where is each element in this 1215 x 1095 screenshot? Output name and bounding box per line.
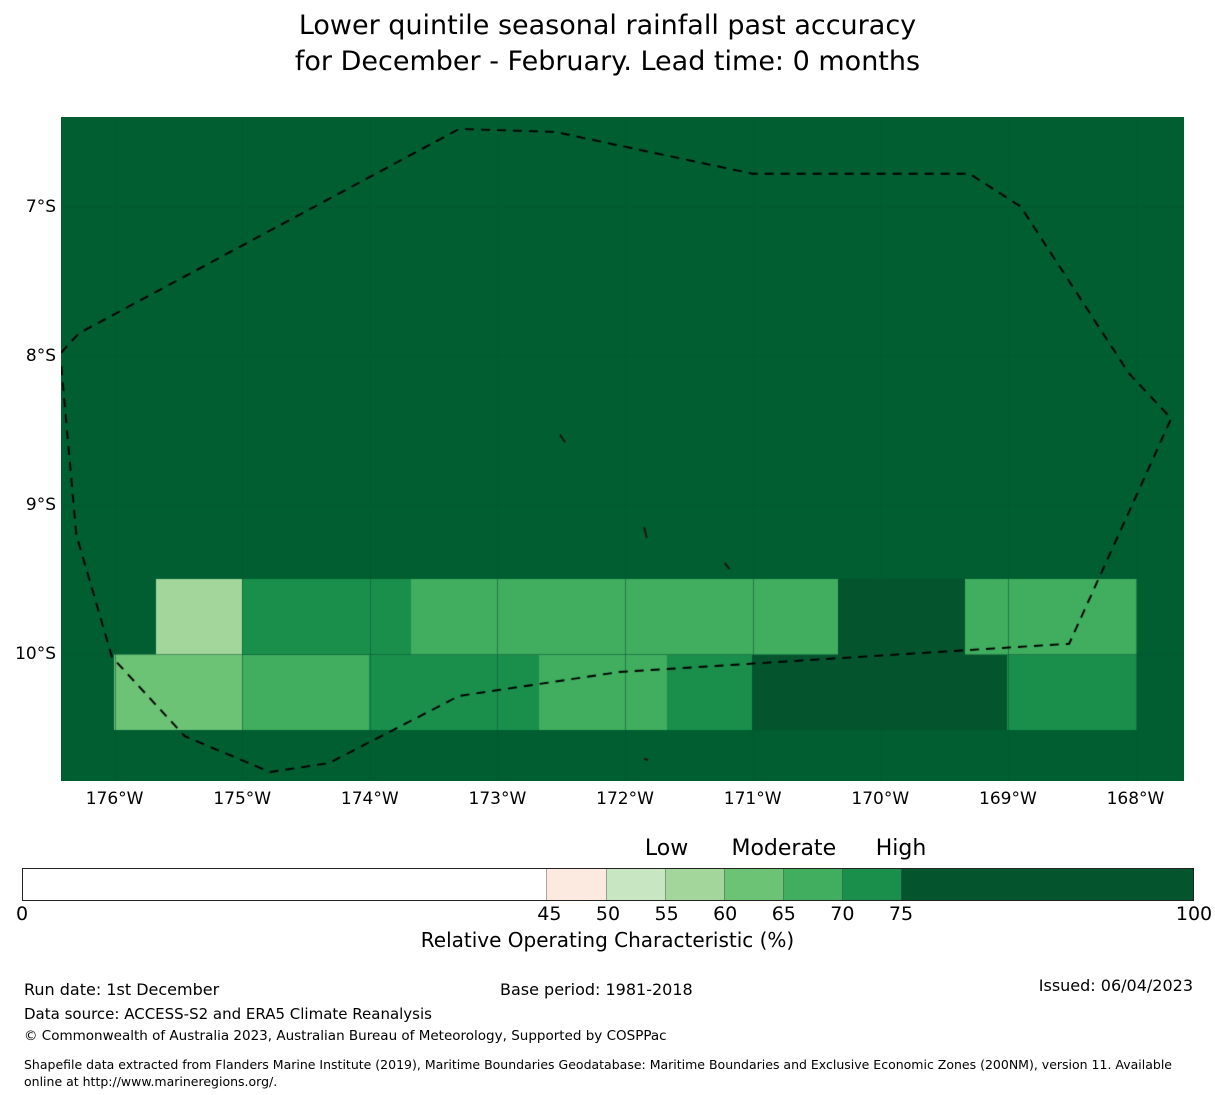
x-tick-label-6: 170°W [835, 791, 925, 808]
colorbar-segment-70-75 [842, 869, 901, 900]
issued-date-text: Issued: 06/04/2023 [1039, 976, 1193, 995]
x-tick-label-7: 169°W [963, 791, 1053, 808]
colorbar-segment-65-70 [783, 869, 842, 900]
colorbar: LowModerateHigh 045505560657075100 Relat… [0, 836, 1215, 956]
colorbar-segment-0-45 [23, 869, 546, 900]
colorbar-segment-45-50 [546, 869, 605, 900]
y-tick-label-0: 7°S [4, 199, 56, 216]
data-source-text: Data source: ACCESS-S2 and ERA5 Climate … [24, 1005, 432, 1023]
copyright-text: © Commonwealth of Australia 2023, Austra… [24, 1028, 667, 1044]
shapefile-note-text: Shapefile data extracted from Flanders M… [24, 1056, 1196, 1090]
colorbar-category-high: High [821, 836, 981, 862]
colorbar-axis-label: Relative Operating Characteristic (%) [0, 928, 1215, 952]
colorbar-segment-50-55 [606, 869, 665, 900]
x-tick-label-0: 176°W [70, 791, 160, 808]
colorbar-strip[interactable] [22, 868, 1194, 901]
run-date-text: Run date: 1st December [24, 980, 219, 999]
x-tick-label-4: 172°W [580, 791, 670, 808]
y-tick-label-1: 8°S [4, 348, 56, 365]
colorbar-tick-100: 100 [1159, 903, 1215, 925]
colorbar-segment-60-65 [724, 869, 783, 900]
y-tick-label-2: 9°S [4, 497, 56, 514]
x-tick-label-8: 168°W [1091, 791, 1181, 808]
title-line-2: for December - February. Lead time: 0 mo… [0, 44, 1215, 80]
colorbar-segment-55-60 [665, 869, 724, 900]
x-tick-label-1: 175°W [197, 791, 287, 808]
footer-row-top: Run date: 1st December Base period: 1981… [0, 980, 1215, 1002]
base-period-text: Base period: 1981-2018 [500, 980, 693, 999]
map-plot-area[interactable] [61, 117, 1184, 781]
x-tick-label-2: 174°W [325, 791, 415, 808]
title-line-1: Lower quintile seasonal rainfall past ac… [0, 8, 1215, 44]
colorbar-tick-75: 75 [866, 903, 936, 925]
page-title: Lower quintile seasonal rainfall past ac… [0, 8, 1215, 80]
roc-heatmap-canvas[interactable] [61, 117, 1184, 781]
x-tick-label-3: 173°W [452, 791, 542, 808]
colorbar-tick-0: 0 [0, 903, 57, 925]
x-tick-label-5: 171°W [708, 791, 798, 808]
colorbar-category-labels: LowModerateHigh [0, 836, 1215, 866]
y-tick-label-3: 10°S [4, 646, 56, 663]
colorbar-segment-75-100 [901, 869, 1193, 900]
